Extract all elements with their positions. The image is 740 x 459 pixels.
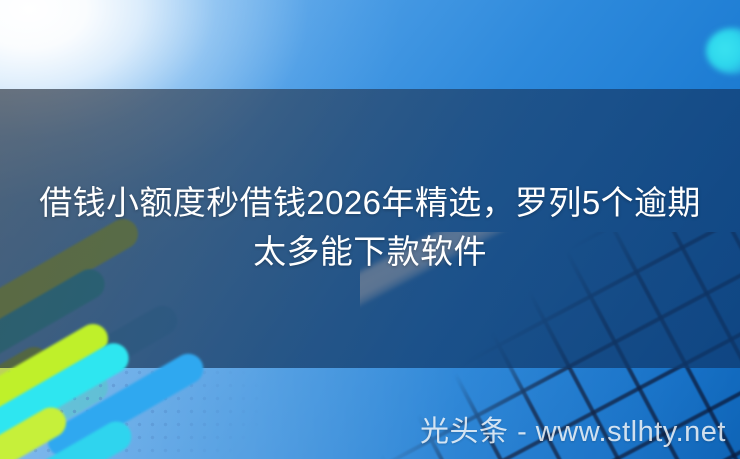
site-watermark: 光头条 - www.stlhty.net: [420, 418, 726, 447]
halftone-dot-pattern: [0, 366, 320, 459]
page-title: 借钱小额度秒借钱2026年精选，罗列5个逾期太多能下款软件: [0, 178, 740, 276]
cover-image: 借钱小额度秒借钱2026年精选，罗列5个逾期太多能下款软件 光头条 - www.…: [0, 0, 740, 459]
